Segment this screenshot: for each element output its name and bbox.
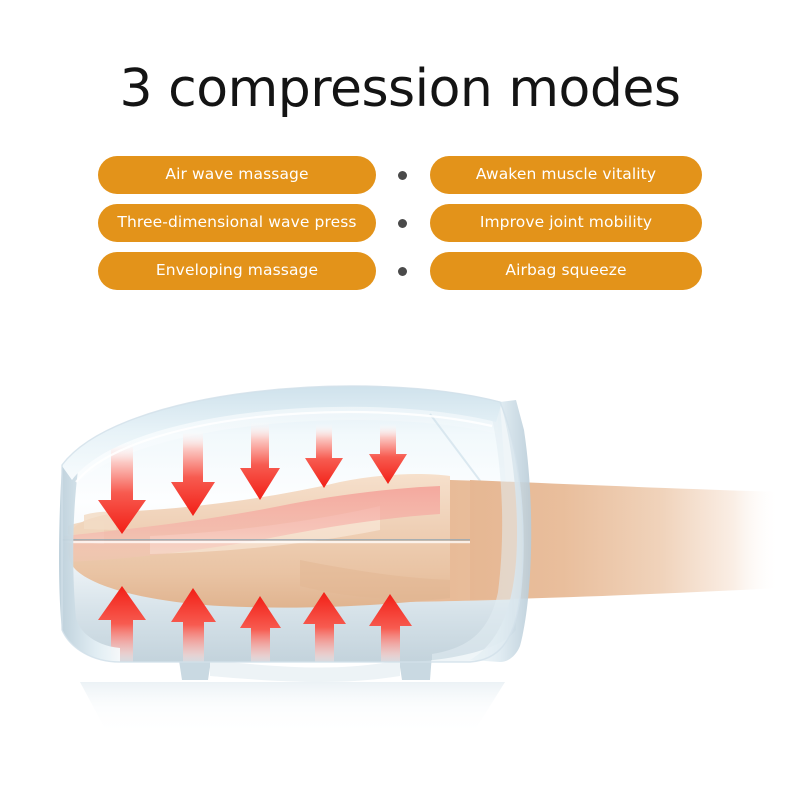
bullet-dot-icon bbox=[398, 267, 407, 276]
product-feature-panel: 3 compression modes Air wave massage Awa… bbox=[0, 0, 800, 800]
mode-pill-left-1[interactable]: Air wave massage bbox=[98, 156, 376, 194]
mode-pill-left-2[interactable]: Three-dimensional wave press bbox=[98, 204, 376, 242]
product-illustration bbox=[0, 330, 800, 800]
mode-row: Three-dimensional wave press Improve joi… bbox=[0, 204, 800, 244]
mode-pill-right-2[interactable]: Improve joint mobility bbox=[430, 204, 702, 242]
page-title: 3 compression modes bbox=[0, 58, 800, 120]
mode-row: Enveloping massage Airbag squeeze bbox=[0, 252, 800, 292]
mode-pill-left-3[interactable]: Enveloping massage bbox=[98, 252, 376, 290]
device-reflection bbox=[80, 682, 505, 738]
bullet-dot-icon bbox=[398, 219, 407, 228]
shell-split-line bbox=[50, 539, 530, 543]
mode-row: Air wave massage Awaken muscle vitality bbox=[0, 156, 800, 196]
bullet-dot-icon bbox=[398, 171, 407, 180]
modes-grid: Air wave massage Awaken muscle vitality … bbox=[0, 156, 800, 292]
mode-pill-right-1[interactable]: Awaken muscle vitality bbox=[430, 156, 702, 194]
mode-pill-right-3[interactable]: Airbag squeeze bbox=[430, 252, 702, 290]
